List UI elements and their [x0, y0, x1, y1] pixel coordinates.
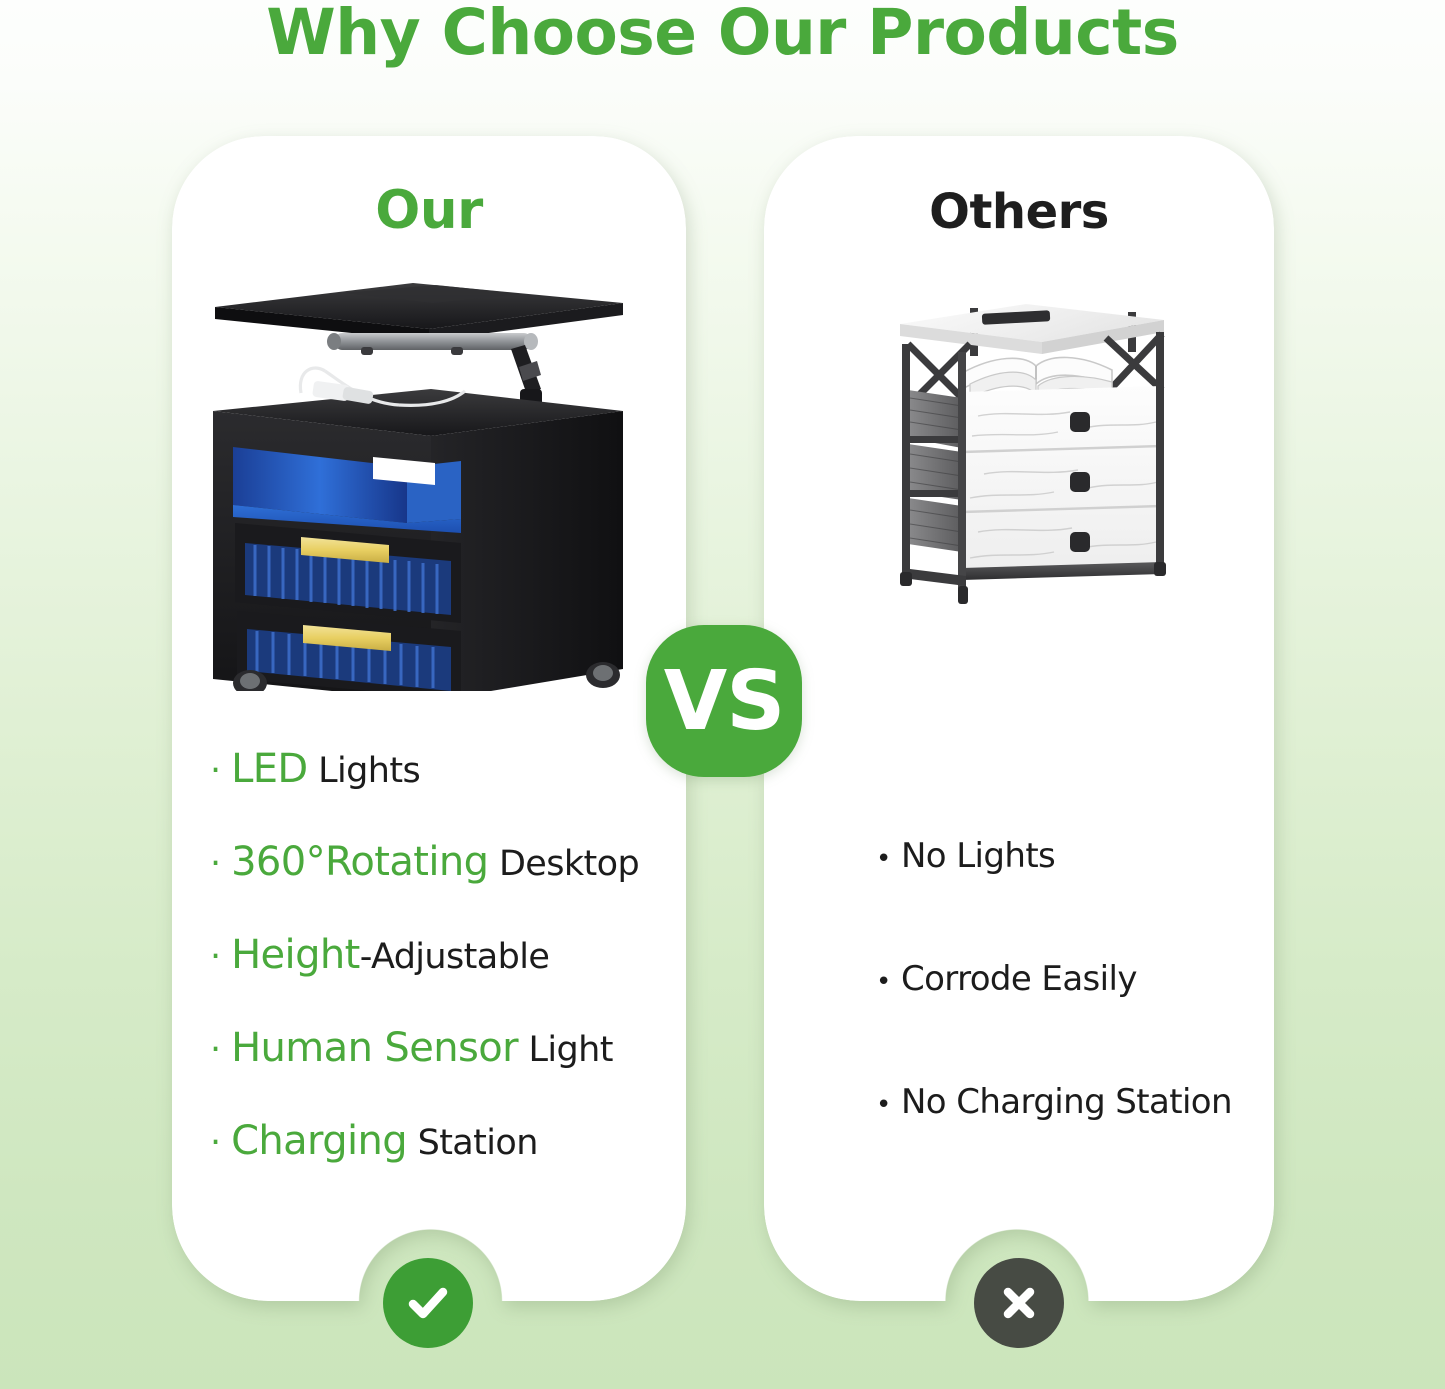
- feature-label: No Lights: [901, 836, 1055, 876]
- feature-rest: -Adjustable: [360, 937, 550, 977]
- other-product-image: [874, 286, 1174, 611]
- cross-icon: [997, 1281, 1041, 1325]
- our-product-image: [193, 271, 667, 696]
- list-item: · Human Sensor Light: [210, 1025, 639, 1071]
- list-item: • No Charging Station: [876, 1082, 1232, 1122]
- feature-label: Corrode Easily: [901, 959, 1137, 999]
- bullet-icon: ·: [210, 844, 221, 884]
- feature-highlight: 360°Rotating: [231, 839, 488, 885]
- check-icon: [402, 1277, 454, 1329]
- drawer-stack: [962, 386, 1162, 572]
- our-product-card: Our: [172, 136, 686, 1301]
- our-card-heading: Our: [172, 180, 686, 241]
- feature-rest: Light: [518, 1030, 613, 1070]
- feature-rest: Lights: [308, 751, 421, 791]
- list-item: • Corrode Easily: [876, 959, 1232, 999]
- bullet-icon: ·: [210, 1030, 221, 1070]
- feature-rest: Desktop: [488, 844, 639, 884]
- bullet-icon: •: [876, 1090, 891, 1120]
- vs-badge: VS: [646, 625, 802, 777]
- list-item: · Height-Adjustable: [210, 932, 639, 978]
- list-item: · Charging Station: [210, 1118, 639, 1164]
- bullet-icon: ·: [210, 751, 221, 791]
- drawer-knob: [1070, 532, 1090, 552]
- feature-highlight: Charging: [231, 1118, 407, 1164]
- comparison-section: Our: [0, 0, 1445, 1389]
- feature-highlight: LED: [231, 746, 308, 792]
- our-feature-list: · LED Lights · 360°Rotating Desktop · He…: [210, 746, 639, 1211]
- our-verdict-badge: [383, 1258, 473, 1348]
- bullet-icon: •: [876, 844, 891, 874]
- lift-top-desktop: [215, 283, 623, 341]
- feature-highlight: Human Sensor: [231, 1025, 518, 1071]
- feature-rest: Station: [407, 1123, 538, 1163]
- list-item: · LED Lights: [210, 746, 639, 792]
- other-feature-list: • No Lights • Corrode Easily • No Chargi…: [876, 836, 1232, 1205]
- feature-label: No Charging Station: [901, 1082, 1232, 1122]
- other-card-heading: Others: [764, 184, 1274, 240]
- drawer-knob: [1070, 472, 1090, 492]
- other-verdict-badge: [974, 1258, 1064, 1348]
- feature-highlight: Height: [231, 932, 360, 978]
- list-item: · 360°Rotating Desktop: [210, 839, 639, 885]
- bullet-icon: ·: [210, 937, 221, 977]
- bullet-icon: •: [876, 967, 891, 997]
- drawer-knob: [1070, 412, 1090, 432]
- fabric-baskets: [904, 390, 964, 552]
- other-product-card: Others: [764, 136, 1274, 1301]
- list-item: • No Lights: [876, 836, 1232, 876]
- bullet-icon: ·: [210, 1123, 221, 1163]
- top-board: [900, 304, 1164, 354]
